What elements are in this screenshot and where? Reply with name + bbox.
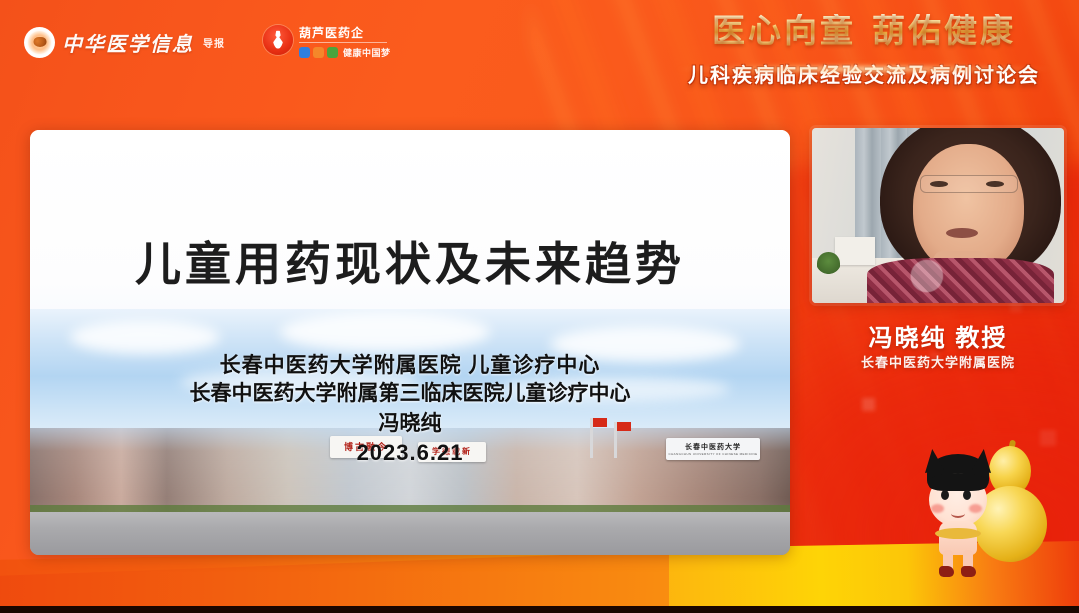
blue-chip-icon (299, 47, 310, 58)
mascot-eye-right (963, 490, 971, 500)
speaker-eye-right (986, 181, 1004, 187)
speaker-name: 冯晓纯 教授 (812, 318, 1064, 353)
speaker-organization: 长春中医药大学附属医院 (812, 352, 1064, 371)
mascot-cheek-right (969, 504, 982, 513)
logo-sponsor-name: 葫芦医药企 (299, 27, 391, 39)
logo-sponsor-chip-row: 健康中国梦 (299, 46, 391, 59)
webcam-video-content (812, 128, 1064, 303)
orange-chip-icon (313, 47, 324, 58)
logo-chinese-medical-information[interactable]: 中华医学信息 导报 (24, 27, 225, 58)
speaker-webcam-feed[interactable] (812, 128, 1064, 303)
speaker-patterned-top (867, 258, 1053, 304)
mascot-leaf-skirt (935, 528, 981, 539)
event-banner: 医心向童葫佑健康 儿科疾病临床经验交流及病例讨论会 (669, 14, 1059, 88)
mascot-cheek-left (931, 504, 944, 513)
logo-sponsor-divider (299, 42, 387, 43)
speaker-eye-left (930, 181, 948, 187)
green-chip-icon (327, 47, 338, 58)
mascot-bangs (929, 473, 987, 491)
bokeh-square (862, 398, 875, 411)
event-title-part2: 葫佑健康 (872, 11, 1016, 50)
slide-subtitle-line2: 长春中医药大学附属第三临床医院儿童诊疗中心 (30, 380, 790, 408)
logo-sponsor[interactable]: 葫芦医药企 健康中国梦 (263, 25, 391, 59)
calabash-boy-mascot (915, 440, 1065, 575)
gourd-flame-circle-icon (263, 25, 293, 55)
event-title: 医心向童葫佑健康 (669, 14, 1059, 49)
slide-subtitle-line1: 长春中医药大学附属医院 儿童诊疗中心 (30, 352, 790, 380)
mascot-shoe-right (961, 566, 976, 577)
header-logo-row: 中华医学信息 导报 葫芦医药企 健康中国梦 (24, 25, 391, 59)
slide-subtitle-block: 长春中医药大学附属医院 儿童诊疗中心 长春中医药大学附属第三临床医院儿童诊疗中心… (30, 352, 790, 468)
presentation-slide[interactable]: 儿童用药现状及未来趋势 博古融今 学德载新 长春中医药大学 CHANGCHUN … (30, 130, 790, 555)
webcam-plant (817, 252, 840, 275)
logo-sponsor-tagline: 健康中国梦 (343, 46, 391, 59)
cloud (70, 320, 220, 354)
slide-title: 儿童用药现状及未来趋势 (30, 228, 790, 294)
mascot-mouth (951, 509, 965, 518)
bottom-black-edge (0, 606, 1079, 613)
cloud (280, 312, 490, 352)
seal-emblem-icon (24, 27, 55, 58)
mascot-shoe-left (939, 566, 954, 577)
logo-sponsor-text-block: 葫芦医药企 健康中国梦 (299, 25, 391, 59)
mascot-boy (915, 454, 1003, 572)
event-title-part1: 医心向童 (712, 11, 856, 50)
logo-primary-suffix: 导报 (203, 35, 225, 50)
slide-date: 2023.6.21 (30, 438, 790, 468)
webcam-box-object (835, 237, 875, 265)
broadcast-stage: 中华医学信息 导报 葫芦医药企 健康中国梦 医心向童葫佑健康 儿科疾病临床经验交… (0, 0, 1079, 613)
mascot-eye-left (941, 490, 949, 500)
logo-primary-text: 中华医学信息 (62, 28, 194, 57)
event-title-glow (677, 64, 1051, 74)
road-strip (30, 512, 790, 555)
slide-presenter-name: 冯晓纯 (30, 409, 790, 438)
